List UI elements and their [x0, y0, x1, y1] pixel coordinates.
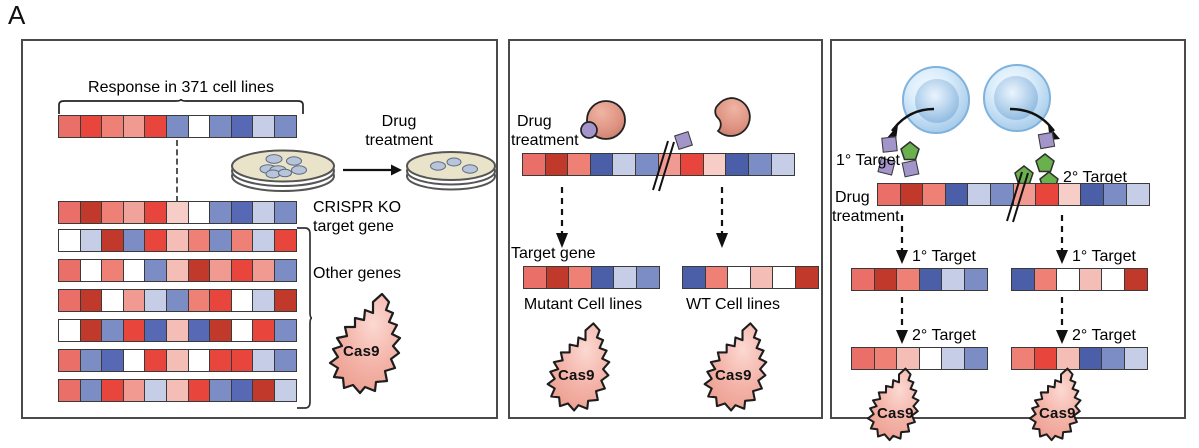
panel-a-drug-label-line1: Drug [349, 113, 449, 130]
heatmap-other-gene-row [58, 319, 297, 342]
heatmap-cell [80, 201, 103, 224]
heatmap-cell [1124, 347, 1148, 370]
heatmap-cell [101, 319, 124, 342]
heatmap-cell [941, 268, 965, 291]
cas9-protein-c-right: Cas9 [1022, 365, 1100, 448]
heatmap-cell [274, 229, 297, 252]
heatmap-wt-row [682, 266, 819, 289]
heatmap-other-gene-row [58, 289, 297, 312]
left-primary-target-label: 1° Target [912, 248, 976, 265]
heatmap-cell [101, 259, 124, 282]
heatmap-cell [58, 259, 81, 282]
heatmap-cell [252, 259, 275, 282]
heatmap-crispr-ko-row [58, 201, 297, 224]
other-genes-label: Other genes [313, 265, 401, 282]
heatmap-cell [80, 289, 103, 312]
heatmap-cell [188, 349, 211, 372]
heatmap-cell [567, 153, 591, 176]
heatmap-cell [58, 115, 81, 138]
heatmap-cell [209, 229, 232, 252]
right-primary-target-label: 1° Target [1072, 248, 1136, 265]
heatmap-cell [941, 347, 965, 370]
secondary-target-pentagon-r1 [1035, 153, 1055, 173]
heatmap-cell [231, 289, 254, 312]
heatmap-cell [144, 319, 167, 342]
heatmap-cell [922, 183, 946, 206]
cas9-protein-b-left: Cas9 [538, 319, 633, 419]
heatmap-cell [613, 266, 637, 289]
heatmap-cell [166, 289, 189, 312]
heatmap-cell [209, 379, 232, 402]
heatmap-mutant-row [523, 266, 660, 289]
panel-a-crispr-screen: Response in 371 cell lines Drug treatmen… [21, 39, 498, 419]
dashed-arrow-right-secondary [1054, 297, 1070, 345]
heatmap-cell [967, 183, 991, 206]
heatmap-cell [80, 115, 103, 138]
cas9-protein-a: Cas9 [319, 289, 427, 402]
heatmap-cell [1126, 183, 1150, 206]
heatmap-cell [705, 266, 729, 289]
heatmap-cell [80, 319, 103, 342]
heatmap-cell [123, 319, 146, 342]
heatmap-cell [58, 289, 81, 312]
axis-break-mark-b [646, 138, 678, 194]
heatmap-cell [274, 319, 297, 342]
heatmap-cell [795, 266, 819, 289]
cas9-protein-b-right: Cas9 [695, 319, 790, 419]
heatmap-cell [166, 201, 189, 224]
heatmap-cell [58, 349, 81, 372]
panel-b-mutant-vs-wt: Drug treatment [508, 39, 823, 419]
heatmap-cell [123, 289, 146, 312]
heatmap-cell [166, 379, 189, 402]
heatmap-cell [101, 229, 124, 252]
heatmap-cell [101, 115, 124, 138]
left-secondary-target-label: 2° Target [912, 327, 976, 344]
heatmap-cell [877, 183, 901, 206]
cas9-label-c-left: Cas9 [877, 405, 914, 422]
heatmap-cell [101, 349, 124, 372]
heatmap-cell [896, 268, 920, 291]
heatmap-cell [590, 153, 614, 176]
heatmap-cell [166, 319, 189, 342]
heatmap-cell [1101, 268, 1125, 291]
primary-target-label-left: 1° Target [836, 152, 900, 169]
axis-break-mark-c [1000, 169, 1032, 225]
heatmap-cell [123, 201, 146, 224]
heatmap-cell [209, 201, 232, 224]
heatmap-cell [123, 115, 146, 138]
heatmap-cell [874, 268, 898, 291]
heatmap-cell [188, 259, 211, 282]
heatmap-cell [1058, 183, 1082, 206]
wt-cell-lines-label: WT Cell lines [673, 296, 793, 313]
heatmap-cell [123, 349, 146, 372]
heatmap-cell [144, 201, 167, 224]
heatmap-cell [274, 379, 297, 402]
other-genes-brace [295, 226, 313, 410]
heatmap-cell [209, 289, 232, 312]
heatmap-cell [188, 115, 211, 138]
heatmap-right-primary-row [1011, 268, 1148, 291]
heatmap-cell [231, 349, 254, 372]
heatmap-cell [523, 266, 547, 289]
unbound-protein-icon [700, 93, 754, 154]
heatmap-cell [1080, 183, 1104, 206]
heatmap-cell [1035, 183, 1059, 206]
dashed-connector [176, 140, 178, 202]
dashed-arrow-right-primary [1054, 215, 1070, 265]
panel-c-drug-label-line1: Drug [835, 189, 870, 206]
mutant-cell-lines-label: Mutant Cell lines [513, 296, 653, 313]
heatmap-cell [144, 379, 167, 402]
heatmap-cell [231, 319, 254, 342]
heatmap-cell [522, 153, 546, 176]
heatmap-cell [188, 289, 211, 312]
heatmap-cell [1124, 268, 1148, 291]
heatmap-cell [1011, 268, 1035, 291]
heatmap-cell [144, 115, 167, 138]
heatmap-cell [682, 266, 706, 289]
heatmap-cell [166, 229, 189, 252]
heatmap-cell [123, 379, 146, 402]
heatmap-cell [964, 268, 988, 291]
heatmap-cell [680, 153, 704, 176]
heatmap-cell [274, 289, 297, 312]
heatmap-cell [123, 259, 146, 282]
heatmap-cell [274, 115, 297, 138]
heatmap-cell [58, 229, 81, 252]
heatmap-cell [1056, 268, 1080, 291]
drug-bound-protein-icon [578, 97, 630, 154]
heatmap-cell [80, 349, 103, 372]
heatmap-cell [252, 289, 275, 312]
heatmap-cell [80, 229, 103, 252]
dashed-arrow-left-secondary [894, 297, 910, 345]
heatmap-cell [166, 349, 189, 372]
heatmap-cell [1034, 268, 1058, 291]
panel-b-drug-label-line2: treatment [511, 132, 579, 149]
target-gene-label: Target gene [511, 245, 596, 262]
cas9-label-a: Cas9 [343, 343, 380, 360]
panel-c-drug-label-line2: treatment [832, 208, 900, 225]
heatmap-cell [80, 259, 103, 282]
heatmap-cell [1101, 347, 1125, 370]
heatmap-other-gene-row [58, 379, 297, 402]
drug-treatment-arrow [343, 163, 403, 177]
primary-target-square-3 [902, 160, 920, 178]
heatmap-cell [209, 319, 232, 342]
heatmap-cell [274, 259, 297, 282]
heatmap-cell [612, 153, 636, 176]
heatmap-cell [252, 115, 275, 138]
heatmap-cell [231, 115, 254, 138]
petri-dish-after [404, 136, 499, 201]
heatmap-cell [144, 289, 167, 312]
heatmap-cell [703, 153, 727, 176]
cas9-label-b-left: Cas9 [558, 367, 595, 384]
heatmap-cell [101, 379, 124, 402]
crispr-ko-label-line2: target gene [313, 218, 394, 235]
panel-c-primary-secondary-targets: 1° Target 2° Target Drug treatment 1° Ta… [830, 39, 1186, 419]
heatmap-cell [900, 183, 924, 206]
heatmap-cell [274, 201, 297, 224]
heatmap-cell [919, 268, 943, 291]
heatmap-cell [101, 289, 124, 312]
cas9-label-c-right: Cas9 [1039, 405, 1076, 422]
heatmap-left-primary-row [851, 268, 988, 291]
crispr-ko-label-line1: CRISPR KO [313, 199, 401, 216]
heatmap-cell [188, 379, 211, 402]
heatmap-cell [80, 379, 103, 402]
heatmap-cell [252, 319, 275, 342]
heatmap-cell [636, 266, 660, 289]
right-secondary-target-label: 2° Target [1072, 327, 1136, 344]
heatmap-cell [166, 115, 189, 138]
heatmap-cell [252, 229, 275, 252]
cas9-label-b-right: Cas9 [715, 367, 752, 384]
heatmap-cell [568, 266, 592, 289]
heatmap-cell [144, 259, 167, 282]
panel-a-title: Response in 371 cell lines [61, 79, 301, 96]
heatmap-cell [252, 201, 275, 224]
heatmap-cell [591, 266, 615, 289]
dashed-arrow-left-primary [894, 215, 910, 265]
heatmap-cell [101, 201, 124, 224]
heatmap-cell [144, 349, 167, 372]
heatmap-response-row [58, 115, 297, 138]
heatmap-cell [252, 349, 275, 372]
heatmap-cell [123, 229, 146, 252]
heatmap-cell [945, 183, 969, 206]
heatmap-cell [58, 319, 81, 342]
heatmap-cell [188, 319, 211, 342]
heatmap-cell [58, 201, 81, 224]
response-brace [56, 99, 306, 115]
petri-dish-before [228, 136, 338, 201]
dashed-arrow-to-mutant [554, 187, 570, 249]
heatmap-cell [231, 229, 254, 252]
heatmap-cell [144, 229, 167, 252]
heatmap-cell [771, 153, 795, 176]
heatmap-cell [545, 153, 569, 176]
heatmap-other-gene-row [58, 229, 297, 252]
primary-target-square-right [1038, 132, 1055, 149]
heatmap-other-gene-row [58, 349, 297, 372]
heatmap-cell [772, 266, 796, 289]
heatmap-cell [209, 259, 232, 282]
dashed-arrow-to-wt [714, 187, 730, 249]
heatmap-cell [748, 153, 772, 176]
heatmap-cell [231, 201, 254, 224]
panel-b-drug-label-line1: Drug [517, 113, 552, 130]
figure-panel-letter: A [8, 2, 25, 28]
heatmap-cell [274, 349, 297, 372]
heatmap-cell [231, 379, 254, 402]
heatmap-cell [546, 266, 570, 289]
heatmap-cell [727, 266, 751, 289]
heatmap-cell [1103, 183, 1127, 206]
heatmap-cell [188, 201, 211, 224]
secondary-target-pentagon-left [900, 141, 920, 161]
heatmap-other-gene-row [58, 259, 297, 282]
heatmap-cell [231, 259, 254, 282]
heatmap-cell [252, 379, 275, 402]
cas9-protein-c-left: Cas9 [860, 365, 938, 448]
heatmap-cell [188, 229, 211, 252]
heatmap-cell [166, 259, 189, 282]
heatmap-cell [851, 268, 875, 291]
heatmap-cell [58, 379, 81, 402]
heatmap-cell [209, 349, 232, 372]
heatmap-cell [750, 266, 774, 289]
heatmap-cell [209, 115, 232, 138]
primary-target-square-1 [881, 136, 897, 152]
heatmap-cell [964, 347, 988, 370]
heatmap-cell [1079, 268, 1103, 291]
heatmap-cell [725, 153, 749, 176]
